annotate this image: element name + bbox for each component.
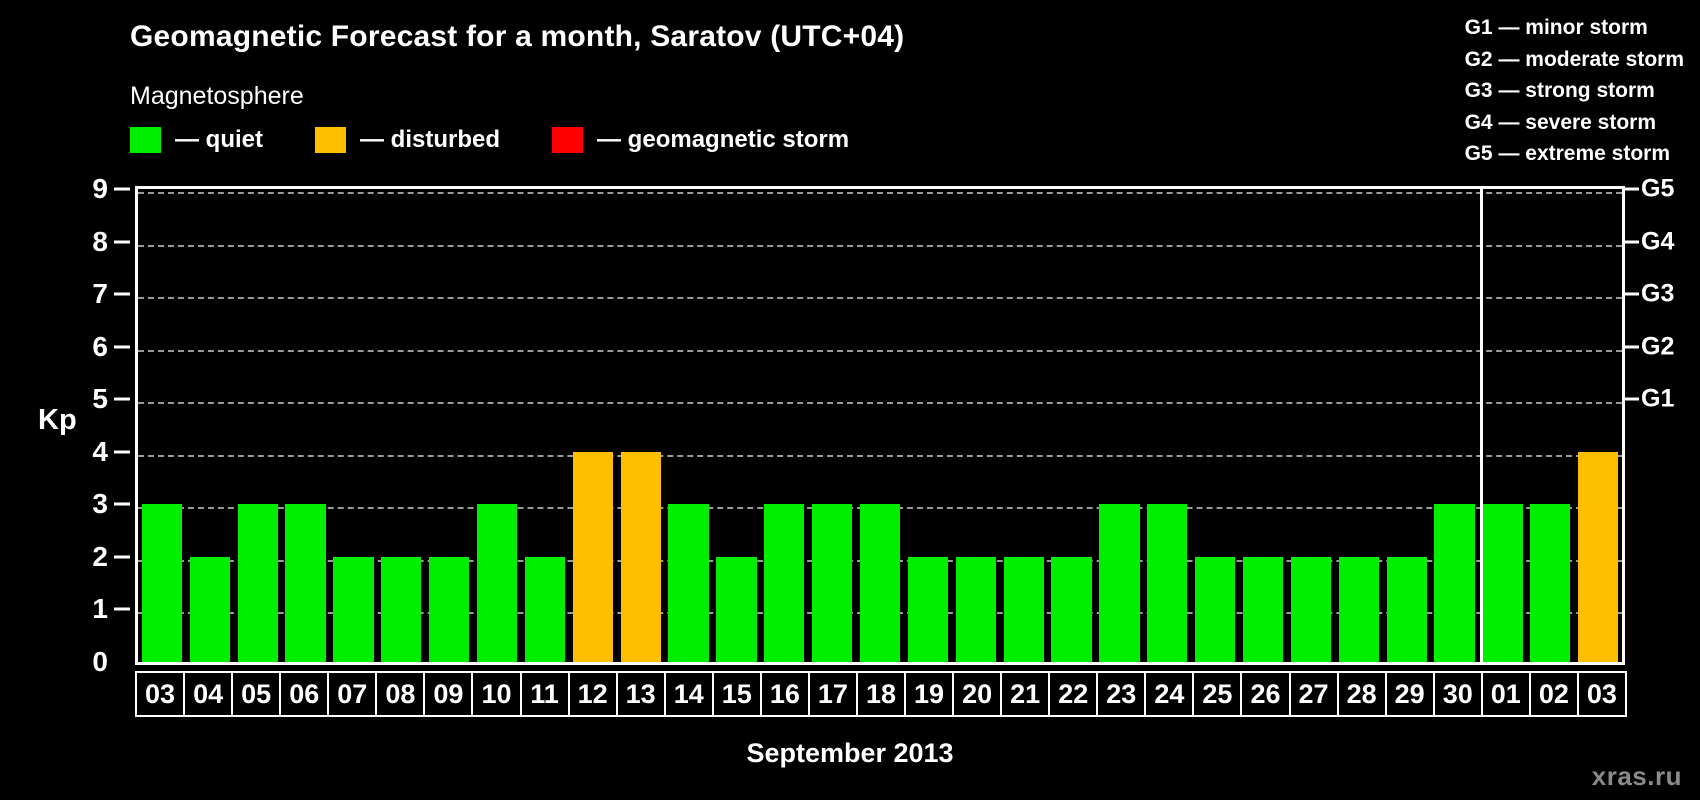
orange-square-icon (315, 127, 346, 153)
y-tick-label-5: 5 (92, 383, 108, 415)
y-tick-mark-8 (114, 240, 130, 243)
bar-day-21 (1004, 557, 1044, 662)
bar-cell (1383, 189, 1431, 662)
bar-cell (1143, 189, 1191, 662)
legend-item-label: — geomagnetic storm (597, 126, 849, 154)
bar-cell (234, 189, 282, 662)
x-axis-day-labels: 0304050607080910111213141516171819202122… (135, 671, 1625, 717)
g-scale-row-4: G4 — severe storm (1465, 107, 1684, 139)
bar-cell (1431, 189, 1479, 662)
g-axis-tick-G2 (1625, 345, 1639, 348)
bar-day-02 (1530, 504, 1570, 662)
bar-day-05 (238, 504, 278, 662)
x-axis-day-1: 04 (183, 671, 233, 717)
x-axis-day-2: 05 (231, 671, 281, 717)
y-tick-label-2: 2 (92, 541, 108, 573)
bar-cell (330, 189, 378, 662)
bar-day-26 (1243, 557, 1283, 662)
g-axis-label-G3: G3 (1641, 280, 1674, 309)
y-tick-mark-7 (114, 293, 130, 296)
y-tick-label-8: 8 (92, 226, 108, 258)
x-axis-day-22: 25 (1192, 671, 1242, 717)
x-axis-day-3: 06 (279, 671, 329, 717)
x-axis-day-4: 07 (327, 671, 377, 717)
x-axis-day-16: 19 (904, 671, 954, 717)
x-axis-day-21: 24 (1144, 671, 1194, 717)
bar-cell (186, 189, 234, 662)
y-tick-mark-4 (114, 450, 130, 453)
legend-item-label: — quiet (175, 126, 263, 154)
g-scale-list: G1 — minor stormG2 — moderate stormG3 — … (1465, 12, 1684, 170)
x-axis-day-6: 09 (423, 671, 473, 717)
x-axis-label: September 2013 (0, 738, 1700, 769)
legend-item-1: — disturbed (315, 126, 500, 154)
bar-cell (760, 189, 808, 662)
x-axis-day-14: 17 (808, 671, 858, 717)
g-axis-label-G4: G4 (1641, 227, 1674, 256)
bar-day-08 (381, 557, 421, 662)
bar-day-19 (908, 557, 948, 662)
g-axis-label-G5: G5 (1641, 175, 1674, 204)
x-axis-day-30: 03 (1577, 671, 1627, 717)
g-scale-row-1: G1 — minor storm (1465, 12, 1684, 44)
x-axis-day-10: 13 (616, 671, 666, 717)
bar-day-07 (333, 557, 373, 662)
x-axis-day-17: 20 (952, 671, 1002, 717)
bar-day-28 (1339, 557, 1379, 662)
bar-day-10 (477, 504, 517, 662)
bar-cell (1526, 189, 1574, 662)
y-tick-label-1: 1 (92, 593, 108, 625)
x-axis-day-12: 15 (712, 671, 762, 717)
y-tick-label-7: 7 (92, 278, 108, 310)
x-axis-day-15: 18 (856, 671, 906, 717)
g-axis-tick-G5 (1625, 188, 1639, 191)
bar-day-06 (285, 504, 325, 662)
bar-cell (1096, 189, 1144, 662)
red-square-icon (552, 127, 583, 153)
g-axis-tick-G3 (1625, 293, 1639, 296)
legend-item-label: — disturbed (360, 126, 500, 154)
bar-day-30 (1434, 504, 1474, 662)
bar-cell (1479, 189, 1527, 662)
bar-cell (425, 189, 473, 662)
g-scale-row-2: G2 — moderate storm (1465, 44, 1684, 76)
legend-item-0: — quiet (130, 126, 263, 154)
bar-day-17 (812, 504, 852, 662)
bar-cell (1239, 189, 1287, 662)
bar-cell (473, 189, 521, 662)
bar-cell (713, 189, 761, 662)
y-tick-mark-3 (114, 503, 130, 506)
y-tick-label-9: 9 (92, 173, 108, 205)
x-axis-day-19: 22 (1048, 671, 1098, 717)
y-tick-mark-9 (114, 188, 130, 191)
y-tick-mark-1 (114, 608, 130, 611)
month-divider (1480, 189, 1483, 662)
bar-cell (1000, 189, 1048, 662)
g-scale-row-3: G3 — strong storm (1465, 75, 1684, 107)
x-axis-day-13: 16 (760, 671, 810, 717)
legend-item-2: — geomagnetic storm (552, 126, 849, 154)
bar-day-04 (190, 557, 230, 662)
y-tick-label-4: 4 (92, 436, 108, 468)
x-axis-day-11: 14 (664, 671, 714, 717)
g-axis-tick-G1 (1625, 398, 1639, 401)
bar-cell (138, 189, 186, 662)
bar-day-23 (1099, 504, 1139, 662)
bar-day-29 (1387, 557, 1427, 662)
bar-cell (569, 189, 617, 662)
bar-day-24 (1147, 504, 1187, 662)
x-axis-day-20: 23 (1096, 671, 1146, 717)
x-axis-day-23: 26 (1240, 671, 1290, 717)
x-axis-day-7: 10 (471, 671, 521, 717)
bar-cell (808, 189, 856, 662)
x-axis-day-27: 30 (1433, 671, 1483, 717)
g-axis-label-G2: G2 (1641, 332, 1674, 361)
y-tick-mark-2 (114, 555, 130, 558)
x-axis-day-18: 21 (1000, 671, 1050, 717)
bar-cell (282, 189, 330, 662)
legend: — quiet— disturbed— geomagnetic storm (130, 126, 901, 154)
chart-subtitle: Magnetosphere (130, 82, 304, 111)
bar-cell (952, 189, 1000, 662)
bar-day-27 (1291, 557, 1331, 662)
bar-cell (1287, 189, 1335, 662)
bar-cell (1574, 189, 1622, 662)
x-axis-day-29: 02 (1529, 671, 1579, 717)
x-axis-day-24: 27 (1289, 671, 1339, 717)
bar-cell (617, 189, 665, 662)
green-square-icon (130, 127, 161, 153)
bar-day-09 (429, 557, 469, 662)
y-tick-label-3: 3 (92, 488, 108, 520)
y-tick-mark-6 (114, 345, 130, 348)
watermark: xras.ru (1592, 761, 1682, 792)
y-axis-label: Kp (38, 404, 77, 437)
page-title: Geomagnetic Forecast for a month, Sarato… (130, 20, 904, 54)
bar-cell (521, 189, 569, 662)
x-axis-day-25: 28 (1337, 671, 1387, 717)
bar-day-18 (860, 504, 900, 662)
bar-series (138, 189, 1622, 662)
bar-day-16 (764, 504, 804, 662)
bar-cell (856, 189, 904, 662)
g-axis-label-G1: G1 (1641, 385, 1674, 414)
y-tick-label-6: 6 (92, 331, 108, 363)
right-g-axis: G1G2G3G4G5 (1625, 186, 1700, 665)
bar-cell (377, 189, 425, 662)
bar-cell (1335, 189, 1383, 662)
y-tick-mark-5 (114, 398, 130, 401)
bar-day-12 (573, 452, 613, 662)
bar-day-20 (956, 557, 996, 662)
x-axis-day-26: 29 (1385, 671, 1435, 717)
x-axis-day-0: 03 (135, 671, 185, 717)
x-axis-day-9: 12 (568, 671, 618, 717)
bar-cell (904, 189, 952, 662)
plot-area (135, 186, 1625, 665)
g-scale-row-5: G5 — extreme storm (1465, 138, 1684, 170)
bar-cell (1048, 189, 1096, 662)
bar-day-01 (1482, 504, 1522, 662)
bar-cell (1191, 189, 1239, 662)
bar-day-11 (525, 557, 565, 662)
bar-day-14 (668, 504, 708, 662)
bar-day-13 (621, 452, 661, 662)
bar-day-15 (716, 557, 756, 662)
bar-day-25 (1195, 557, 1235, 662)
y-tick-label-0: 0 (92, 646, 108, 678)
bar-day-03 (1578, 452, 1618, 662)
x-axis-day-8: 11 (520, 671, 570, 717)
bar-cell (665, 189, 713, 662)
g-axis-tick-G4 (1625, 240, 1639, 243)
bar-day-03 (142, 504, 182, 662)
x-axis-day-5: 08 (375, 671, 425, 717)
x-axis-day-28: 01 (1481, 671, 1531, 717)
bar-day-22 (1051, 557, 1091, 662)
